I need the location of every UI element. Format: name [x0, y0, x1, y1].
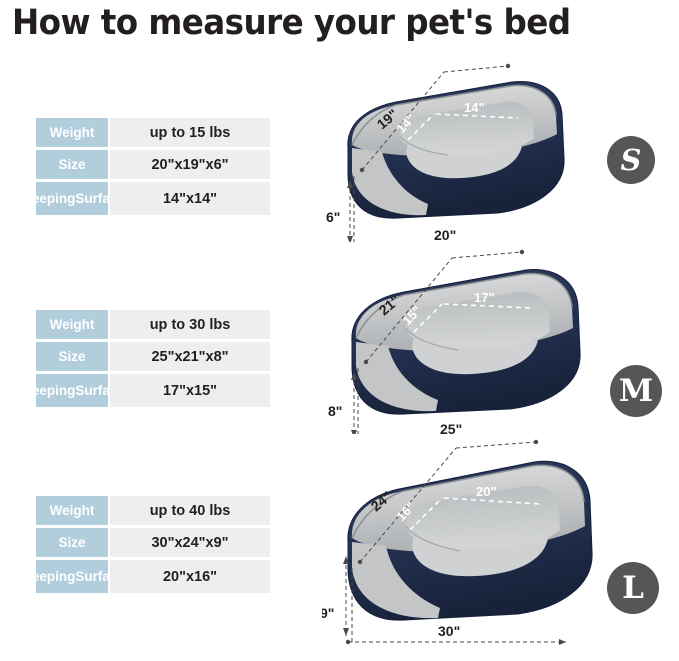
table-row: Size 25"x21"x8"	[36, 342, 270, 371]
callout-inner-width-medium: 17"	[474, 290, 495, 305]
bed-illustration-medium: 21" 8" 25" 15" 17"	[322, 242, 632, 434]
callout-inner-width-large: 20"	[476, 484, 497, 499]
spec-table-small: Weight up to 15 lbs Size 20"x19"x6" Slee…	[36, 118, 270, 215]
size-badge-medium: M	[610, 365, 662, 417]
spec-label-weight: Weight	[36, 496, 108, 525]
spec-value-weight: up to 15 lbs	[108, 118, 270, 147]
spec-label-sleeping-surface: Sleeping Surface	[36, 182, 108, 215]
size-section-large: Weight up to 40 lbs Size 30"x24"x9" Slee…	[0, 434, 679, 661]
table-row: Weight up to 40 lbs	[36, 496, 270, 525]
spec-value-size: 25"x21"x8"	[108, 342, 270, 371]
callout-height-medium: 8"	[328, 403, 342, 419]
table-row: Weight up to 15 lbs	[36, 118, 270, 147]
spec-label-size: Size	[36, 342, 108, 371]
sleeping-surface-line-1: Sleeping	[19, 192, 75, 206]
sleeping-surface-line-1: Sleeping	[19, 384, 75, 398]
spec-value-sleeping-surface: 14"x14"	[108, 182, 270, 215]
callout-inner-width-small: 14"	[464, 100, 485, 115]
table-row: Weight up to 30 lbs	[36, 310, 270, 339]
spec-label-sleeping-surface: Sleeping Surface	[36, 374, 108, 407]
spec-value-weight: up to 30 lbs	[108, 310, 270, 339]
spec-value-weight: up to 40 lbs	[108, 496, 270, 525]
size-badge-large: L	[607, 562, 659, 614]
size-badge-small: S	[607, 136, 655, 184]
table-row: Size 30"x24"x9"	[36, 528, 270, 557]
table-row: Sleeping Surface 20"x16"	[36, 560, 270, 593]
sleeping-surface-line-1: Sleeping	[19, 570, 75, 584]
bed-illustration-large: 24" 9" 30" 16" 20"	[322, 434, 642, 652]
callout-height-large: 9"	[322, 605, 334, 621]
spec-label-weight: Weight	[36, 118, 108, 147]
page-title: How to measure your pet's bed	[12, 2, 626, 44]
callout-height-small: 6"	[326, 209, 340, 225]
spec-table-large: Weight up to 40 lbs Size 30"x24"x9" Slee…	[36, 496, 270, 593]
spec-value-sleeping-surface: 20"x16"	[108, 560, 270, 593]
table-row: Size 20"x19"x6"	[36, 150, 270, 179]
spec-value-size: 20"x19"x6"	[108, 150, 270, 179]
spec-label-sleeping-surface: Sleeping Surface	[36, 560, 108, 593]
spec-value-sleeping-surface: 17"x15"	[108, 374, 270, 407]
spec-label-size: Size	[36, 528, 108, 557]
spec-label-weight: Weight	[36, 310, 108, 339]
callout-width-large: 30"	[438, 623, 460, 639]
size-section-medium: Weight up to 30 lbs Size 25"x21"x8" Slee…	[0, 242, 679, 434]
callout-width-medium: 25"	[440, 421, 462, 434]
size-section-small: Weight up to 15 lbs Size 20"x19"x6" Slee…	[0, 52, 679, 242]
table-row: Sleeping Surface 14"x14"	[36, 182, 270, 215]
bed-illustration-small: 19" 6" 20" 14" 14"	[322, 52, 622, 242]
table-row: Sleeping Surface 17"x15"	[36, 374, 270, 407]
spec-table-medium: Weight up to 30 lbs Size 25"x21"x8" Slee…	[36, 310, 270, 407]
callout-width-small: 20"	[434, 227, 456, 242]
spec-value-size: 30"x24"x9"	[108, 528, 270, 557]
spec-label-size: Size	[36, 150, 108, 179]
